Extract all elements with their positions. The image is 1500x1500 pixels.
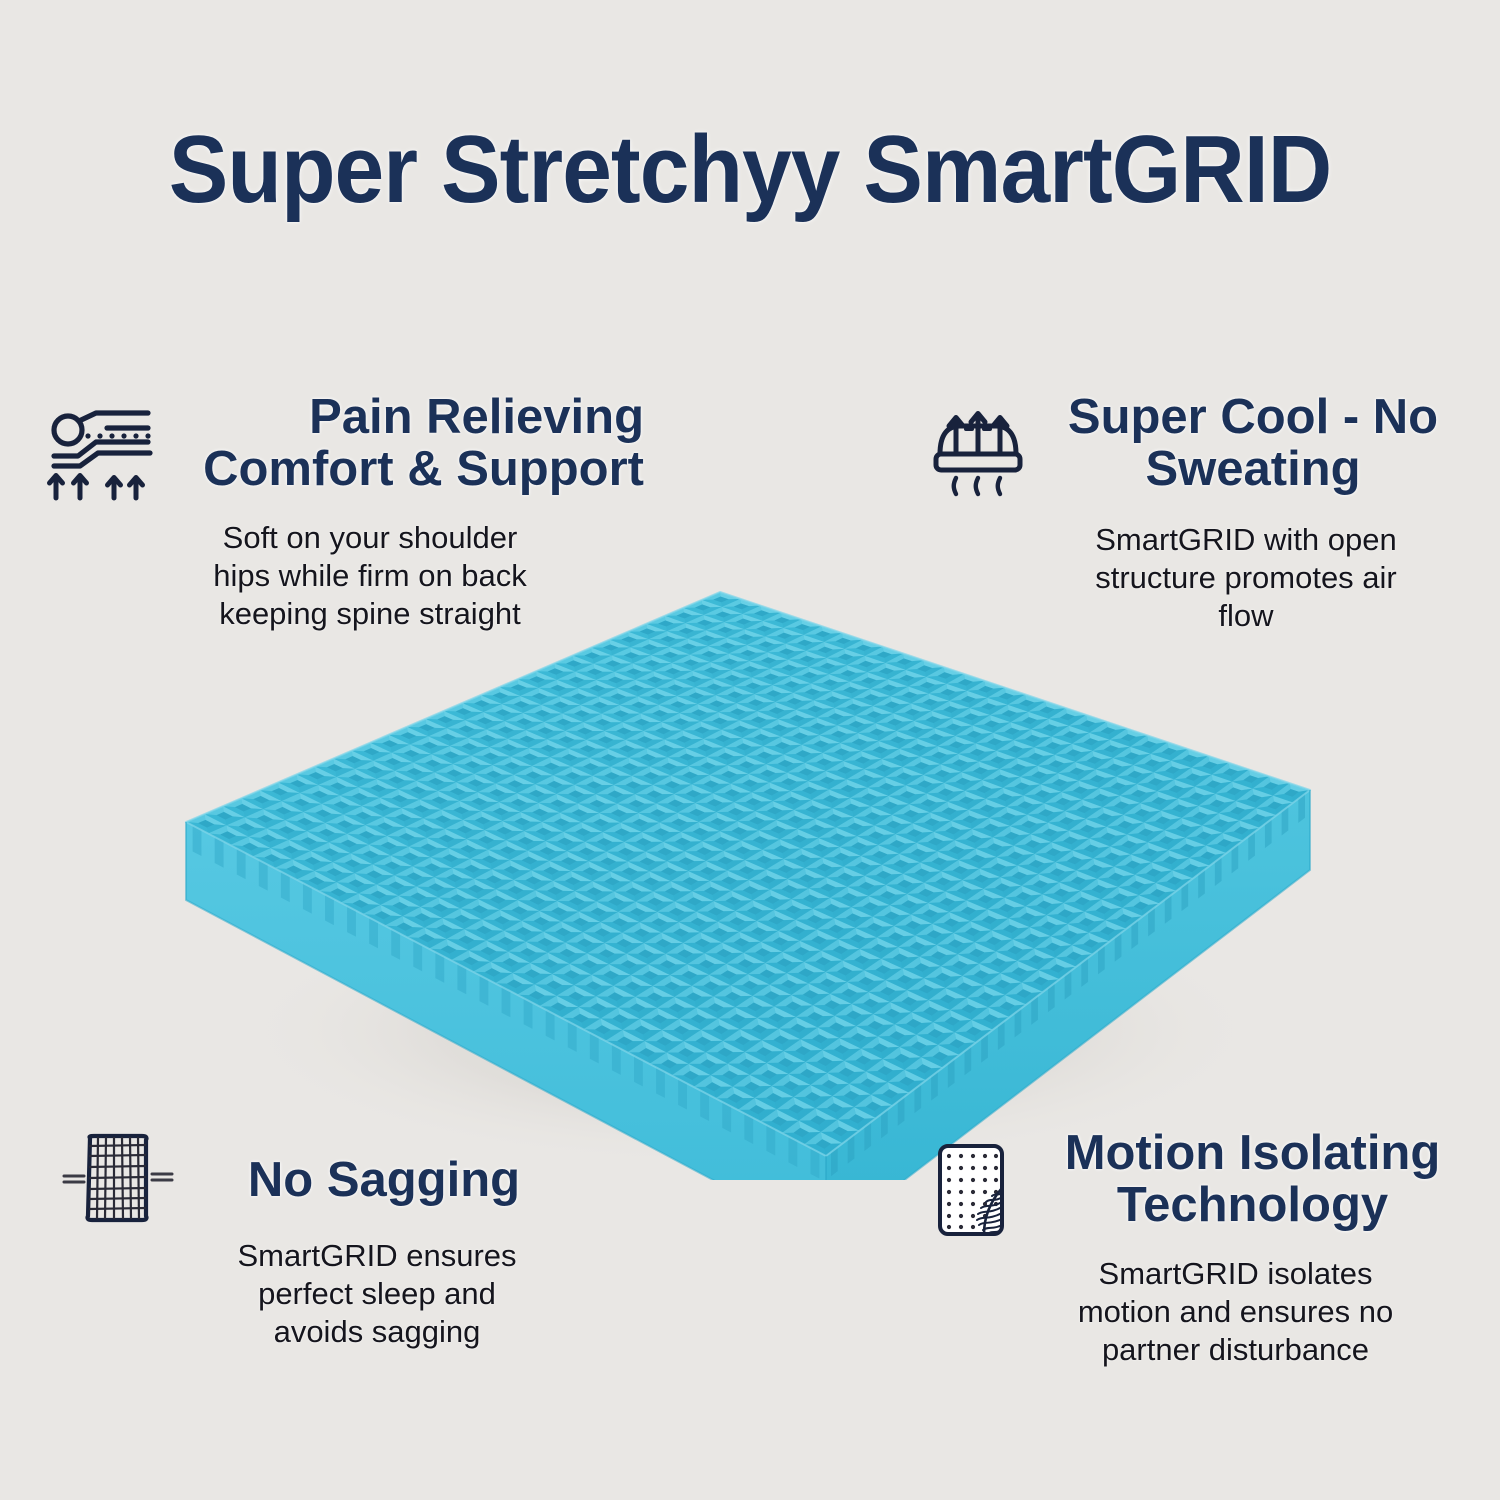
- mattress-dots-waves-icon: [928, 1138, 1020, 1247]
- feature-title: Super Cool - No Sweating: [1030, 392, 1466, 496]
- feature-title: Pain Relieving Comfort & Support: [162, 392, 644, 496]
- feature-body: SmartGRID isolates motion and ensures no…: [928, 1255, 1473, 1368]
- feature-body-line1: SmartGRID with open: [1026, 521, 1466, 559]
- infographic-canvas: Super Stretchyy SmartGRID: [0, 0, 1500, 1500]
- feature-pain-relieving: Pain Relieving Comfort & Support Soft on…: [44, 392, 644, 632]
- feature-body: SmartGRID ensures perfect sleep and avoi…: [62, 1237, 582, 1350]
- feature-no-sagging: No Sagging SmartGRID ensures perfect sle…: [62, 1128, 582, 1350]
- feature-body-line3: flow: [1026, 597, 1466, 635]
- feature-body-line3: partner disturbance: [998, 1331, 1473, 1369]
- feature-body-line3: avoids sagging: [172, 1313, 582, 1351]
- feature-motion-isolating: Motion Isolating Technology SmartGRID is…: [928, 1128, 1473, 1368]
- feature-body: Soft on your shoulder hips while firm on…: [44, 519, 644, 632]
- feature-title-line1: Super Cool - No: [1040, 392, 1466, 444]
- page-title: Super Stretchyy SmartGRID: [53, 122, 1448, 218]
- mesh-grid-icon: [62, 1128, 174, 1233]
- person-on-mattress-arrows-icon: [44, 398, 162, 507]
- feature-body: SmartGRID with open structure promotes a…: [926, 521, 1466, 634]
- feature-header: No Sagging: [62, 1128, 582, 1233]
- feature-body-line2: structure promotes air: [1026, 559, 1466, 597]
- feature-title: No Sagging: [174, 1155, 582, 1207]
- feature-title: Motion Isolating Technology: [1020, 1128, 1473, 1232]
- feature-body-line1: Soft on your shoulder: [96, 519, 644, 557]
- feature-title-line2: Sweating: [1040, 444, 1466, 496]
- feature-title-line1: No Sagging: [186, 1155, 582, 1207]
- feature-title-line2: Comfort & Support: [170, 444, 644, 496]
- feature-body-line2: hips while firm on back: [96, 557, 644, 595]
- feature-title-line2: Technology: [1032, 1180, 1473, 1232]
- feature-body-line3: keeping spine straight: [96, 595, 644, 633]
- feature-header: Super Cool - No Sweating: [926, 392, 1466, 509]
- feature-title-line1: Motion Isolating: [1032, 1128, 1473, 1180]
- feature-body-line2: motion and ensures no: [998, 1293, 1473, 1331]
- mattress-airflow-icon: [926, 400, 1030, 509]
- feature-super-cool: Super Cool - No Sweating SmartGRID with …: [926, 392, 1466, 634]
- feature-body-line1: SmartGRID ensures: [172, 1237, 582, 1275]
- feature-title-line1: Pain Relieving: [170, 392, 644, 444]
- product-image-smartgrid-slab: [150, 560, 1350, 1180]
- feature-header: Motion Isolating Technology: [928, 1128, 1473, 1247]
- feature-body-line1: SmartGRID isolates: [998, 1255, 1473, 1293]
- feature-body-line2: perfect sleep and: [172, 1275, 582, 1313]
- feature-header: Pain Relieving Comfort & Support: [44, 392, 644, 507]
